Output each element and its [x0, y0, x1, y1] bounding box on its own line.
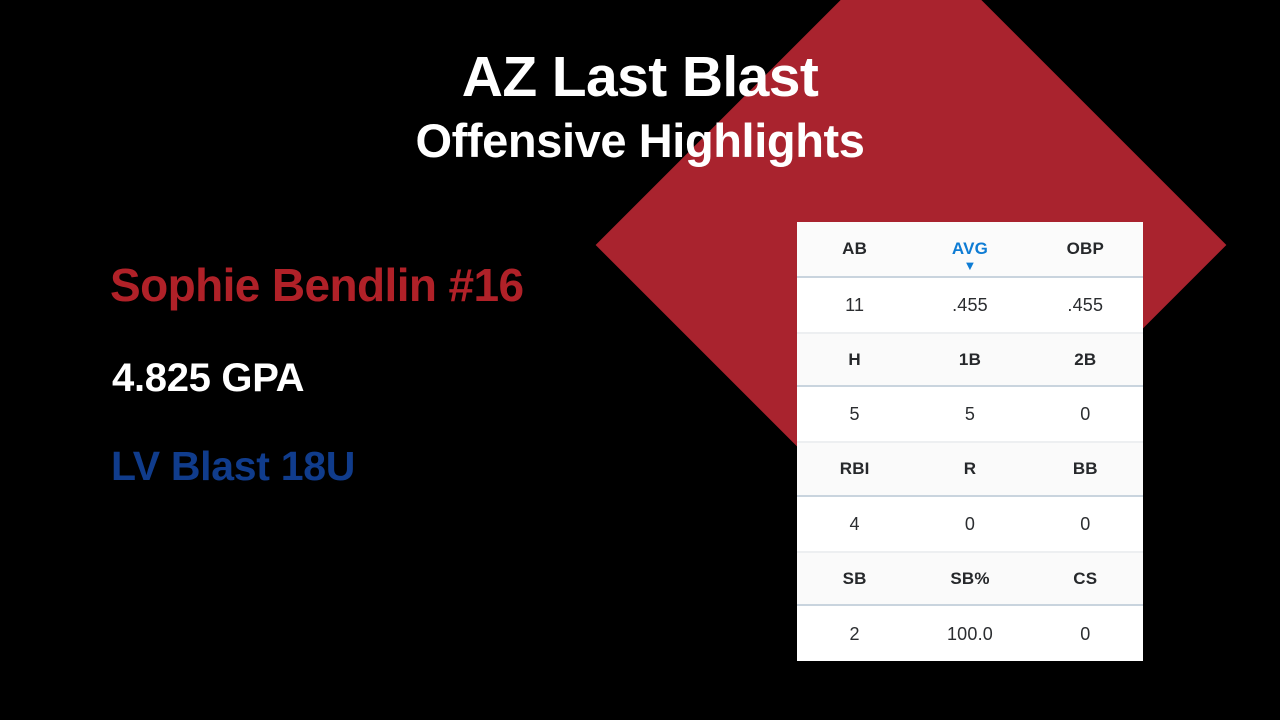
column-header-1b[interactable]: 1B: [912, 351, 1027, 368]
column-header-sb-pct[interactable]: SB%: [912, 570, 1027, 587]
column-header-ab[interactable]: AB: [797, 240, 912, 257]
value-rbi: 4: [797, 515, 912, 533]
column-header-obp[interactable]: OBP: [1028, 240, 1143, 257]
table-row: 5 5 0: [797, 387, 1143, 442]
slide-canvas: AZ Last Blast Offensive Highlights Sophi…: [0, 0, 1280, 720]
table-header-row: SB SB% CS: [797, 552, 1143, 607]
table-row: 4 0 0: [797, 497, 1143, 552]
column-header-avg[interactable]: AVG ▼: [912, 240, 1027, 257]
table-header-row: H 1B 2B: [797, 333, 1143, 388]
sort-descending-icon[interactable]: ▼: [912, 259, 1027, 272]
player-name: Sophie Bendlin #16: [110, 262, 524, 308]
player-gpa: 4.825 GPA: [112, 358, 524, 398]
value-avg: .455: [912, 296, 1027, 314]
page-title: AZ Last Blast Offensive Highlights: [0, 48, 1280, 168]
column-header-avg-label: AVG: [952, 239, 988, 258]
column-header-sb[interactable]: SB: [797, 570, 912, 587]
table-header-row: AB AVG ▼ OBP: [797, 222, 1143, 278]
player-info: Sophie Bendlin #16 4.825 GPA LV Blast 18…: [110, 262, 524, 487]
value-sb: 2: [797, 625, 912, 643]
value-obp: .455: [1028, 296, 1143, 314]
column-header-2b[interactable]: 2B: [1028, 351, 1143, 368]
value-1b: 5: [912, 405, 1027, 423]
column-header-r[interactable]: R: [912, 460, 1027, 477]
column-header-rbi[interactable]: RBI: [797, 460, 912, 477]
value-bb: 0: [1028, 515, 1143, 533]
value-r: 0: [912, 515, 1027, 533]
column-header-h[interactable]: H: [797, 351, 912, 368]
title-line-secondary: Offensive Highlights: [0, 115, 1280, 168]
table-row: 11 .455 .455: [797, 278, 1143, 333]
column-header-cs[interactable]: CS: [1028, 570, 1143, 587]
value-h: 5: [797, 405, 912, 423]
value-ab: 11: [797, 296, 912, 314]
table-row: 2 100.0 0: [797, 606, 1143, 661]
value-cs: 0: [1028, 625, 1143, 643]
value-2b: 0: [1028, 405, 1143, 423]
title-line-primary: AZ Last Blast: [0, 48, 1280, 107]
player-team: LV Blast 18U: [111, 446, 524, 487]
stats-table: AB AVG ▼ OBP 11 .455 .455 H 1B 2B 5 5 0 …: [797, 222, 1143, 661]
table-header-row: RBI R BB: [797, 442, 1143, 497]
value-sb-pct: 100.0: [912, 625, 1027, 643]
column-header-bb[interactable]: BB: [1028, 460, 1143, 477]
